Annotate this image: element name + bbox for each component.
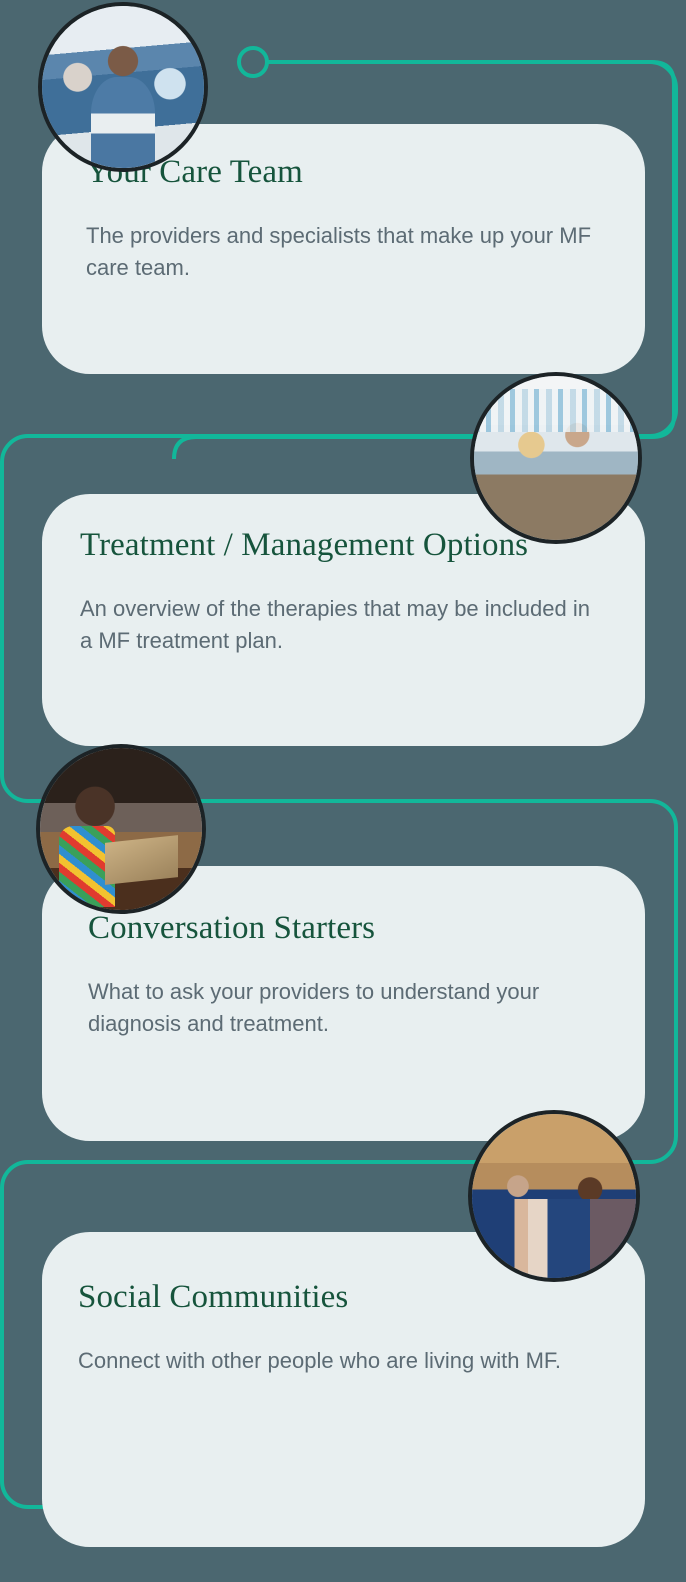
card-description: Connect with other people who are living… — [78, 1345, 608, 1377]
card-title: Conversation Starters — [88, 910, 375, 947]
card-image-conversation-starters — [36, 744, 206, 914]
card-description: The providers and specialists that make … — [86, 220, 596, 284]
photo-group-embrace — [472, 1114, 636, 1278]
journey-diagram: Your Care Team The providers and special… — [0, 0, 686, 1582]
start-node-circle — [239, 48, 267, 76]
card-image-treatment-management-options — [470, 372, 642, 544]
card-description: An overview of the therapies that may be… — [80, 593, 605, 657]
card-title: Social Communities — [78, 1279, 348, 1316]
photo-healthcare-team — [42, 6, 204, 168]
photo-couple-pharmacy — [474, 376, 638, 540]
photo-woman-laptop — [40, 748, 202, 910]
card-description: What to ask your providers to understand… — [88, 976, 618, 1040]
card-title: Treatment / Management Options — [80, 527, 528, 564]
card-image-social-communities — [468, 1110, 640, 1282]
card-image-your-care-team — [38, 2, 208, 172]
